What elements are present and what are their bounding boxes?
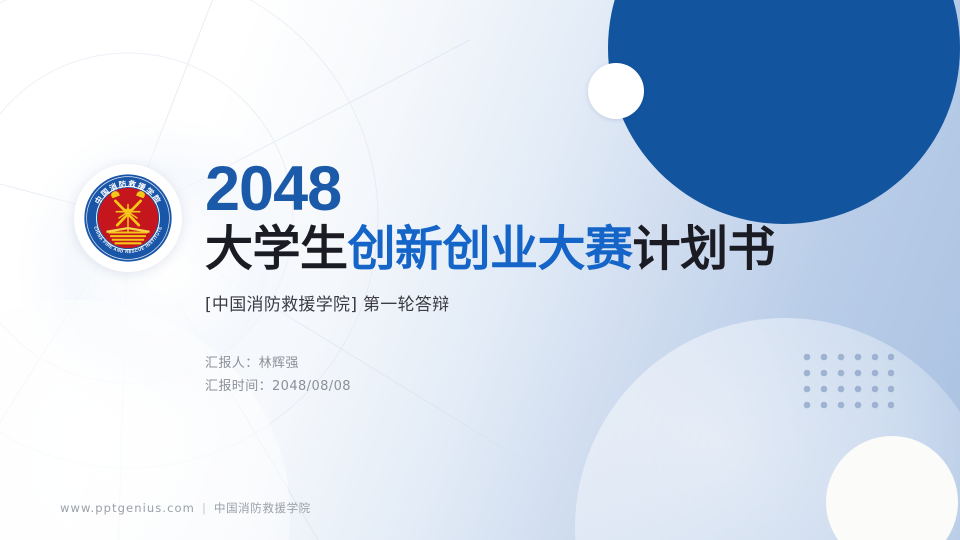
presenter-name-line: 汇报人：林辉强 [205,353,845,376]
headline-part-3: 计划书 [633,221,776,277]
china-fire-and-rescue-institute-emblem-icon: 中国消防救援学院 CHINA FIRE AND RESCUE INSTITUTE [83,173,173,263]
white-circle-bottom-right-decoration [826,436,958,540]
presentation-date-line: 汇报时间：2048/08/08 [205,376,845,399]
headline-part-2: 创新创业大赛 [348,221,633,277]
footer-separator: | [202,501,207,515]
title-text-block: 2048 大学生创新创业大赛计划书 [中国消防救援学院] 第一轮答辩 汇报人：林… [205,158,845,398]
institute-logo: 中国消防救援学院 CHINA FIRE AND RESCUE INSTITUTE [74,164,182,272]
footer-website[interactable]: www.pptgenius.com [60,501,195,515]
subtitle: [中国消防救援学院] 第一轮答辩 [205,290,845,315]
presenter-info: 汇报人：林辉强 汇报时间：2048/08/08 [205,353,845,399]
footer: www.pptgenius.com | 中国消防救援学院 [60,500,311,516]
small-white-circle-decoration [588,63,644,119]
presentation-slide: 中国消防救援学院 CHINA FIRE AND RESCUE INSTITUTE [0,0,960,540]
main-headline: 大学生创新创业大赛计划书 [205,223,845,277]
year-title: 2048 [205,158,845,221]
headline-part-1: 大学生 [205,221,348,277]
footer-organization: 中国消防救援学院 [214,500,311,516]
